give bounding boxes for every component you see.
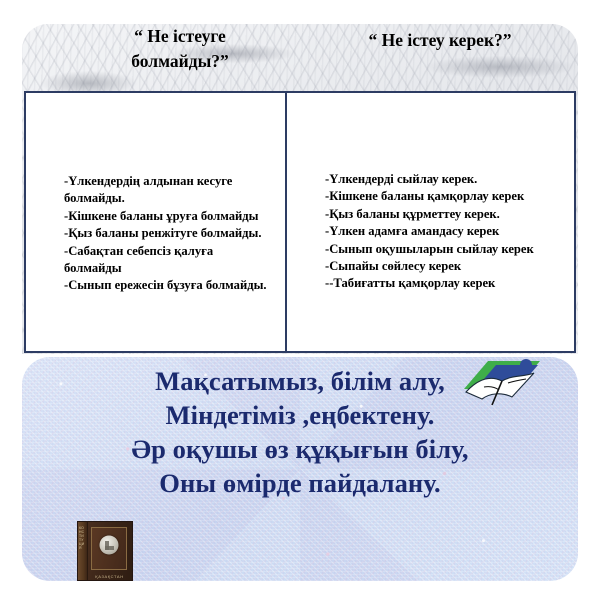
list-item: -Үлкендердің алдынан кесуге болмайды. xyxy=(64,173,269,208)
motto-line: Әр оқушы өз құқығын білу, xyxy=(22,432,578,466)
text-box-left: -Үлкендердің алдынан кесуге болмайды. -К… xyxy=(24,91,286,353)
list-item: -Қыз баланы құрметтеу керек. xyxy=(325,206,565,223)
required-list: -Үлкендерді сыйлау керек. -Кішкене балан… xyxy=(325,171,565,293)
list-item: -Сынып ережесін бұзуға болмайды. xyxy=(64,277,269,294)
list-item: -Сабақтан себепсіз қалуға болмайды xyxy=(64,243,269,278)
book-emblem-mark xyxy=(105,541,114,550)
list-item: --Табиғатты қамқорлау керек xyxy=(325,275,565,292)
text-box-right: -Үлкендерді сыйлау керек. -Кішкене балан… xyxy=(286,91,576,353)
forbidden-list: -Үлкендердің алдынан кесуге болмайды. -К… xyxy=(64,173,269,295)
heading-left: “ Не істеуге болмайды?” xyxy=(80,24,280,74)
heading-right: “ Не істеу керек?” xyxy=(320,28,560,53)
book-spine-label: КОНСТИТУЦИЯ xyxy=(79,526,86,550)
slide-canvas: “ Не істеуге болмайды?” “ Не істеу керек… xyxy=(0,0,600,600)
open-book-icon-svg xyxy=(462,359,542,411)
constitution-book-photo: КОНСТИТУЦИЯ ҚАЗАҚСТАН xyxy=(77,521,133,581)
list-item: -Сыпайы сөйлесу керек xyxy=(325,258,565,275)
book-spine: КОНСТИТУЦИЯ xyxy=(78,522,88,580)
list-item: -Кішкене баланы қамқорлау керек xyxy=(325,188,565,205)
list-item: -Сынып оқушыларын сыйлау керек xyxy=(325,241,565,258)
book-emblem xyxy=(100,536,119,555)
book-cover-caption: ҚАЗАҚСТАН xyxy=(91,574,128,579)
list-item: -Үлкендерді сыйлау керек. xyxy=(325,171,565,188)
list-item: -Қыз баланы ренжітуге болмайды. xyxy=(64,225,269,242)
book-cover-frame xyxy=(91,527,127,570)
list-item: -Үлкен адамға амандасу керек xyxy=(325,223,565,240)
open-book-icon xyxy=(462,359,542,411)
list-item: -Кішкене баланы ұруға болмайды xyxy=(64,208,269,225)
motto-line: Оны өмірде пайдалану. xyxy=(22,466,578,500)
